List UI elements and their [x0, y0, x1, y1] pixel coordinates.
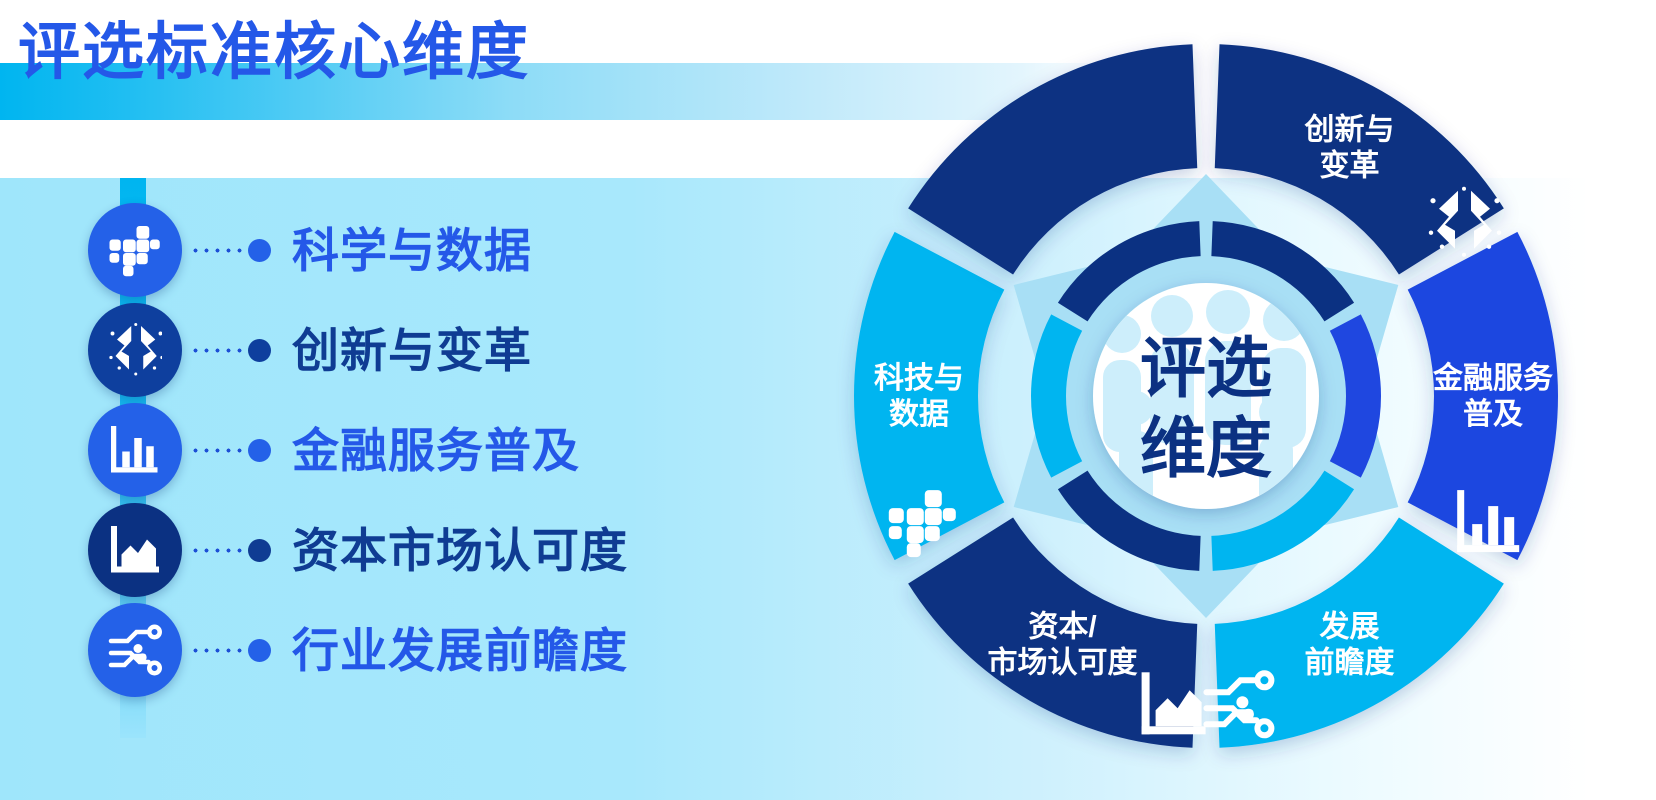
- list-item[interactable]: 科学与数据: [0, 200, 820, 300]
- list-item[interactable]: 创新与变革: [0, 300, 820, 400]
- donut-segment-label: 金融服务: [1432, 361, 1553, 395]
- donut-center-line1: 评选: [1140, 331, 1272, 405]
- list-bullet: [248, 339, 271, 362]
- donut-svg: 评选 维度 创新与变革金融服务普及发展前瞻度资本/市场认可度科技与数据: [836, 16, 1576, 776]
- area-chart-icon-badge[interactable]: [88, 503, 182, 597]
- list-item-label: 金融服务普及: [292, 427, 580, 474]
- bar-chart-icon: [108, 423, 162, 477]
- list-bullet: [248, 639, 271, 662]
- donut-segment-label: 普及: [1463, 397, 1523, 431]
- list-bullet: [248, 439, 271, 462]
- area-chart-icon: [108, 523, 162, 577]
- evaluation-dimensions-donut-chart: 评选 维度 创新与变革金融服务普及发展前瞻度资本/市场认可度科技与数据: [836, 16, 1576, 776]
- donut-segment-label: 创新与: [1304, 113, 1395, 146]
- dot-leader: [190, 548, 252, 553]
- donut-center-line2: 维度: [1140, 411, 1272, 485]
- list-item[interactable]: 行业发展前瞻度: [0, 600, 820, 700]
- nodes-blocks-icon-badge[interactable]: [88, 203, 182, 297]
- nodes-blocks-icon: [108, 223, 162, 277]
- donut-segment-label: 资本/: [1028, 610, 1097, 643]
- dot-leader: [190, 648, 252, 653]
- dimension-list: 科学与数据 创新与变革 金融服务普及: [0, 200, 820, 720]
- donut-segment-finance[interactable]: [1408, 232, 1558, 560]
- donut-segment-label: 前瞻度: [1305, 646, 1395, 679]
- circuit-network-icon-badge[interactable]: [88, 603, 182, 697]
- page-title: 评选标准核心维度: [18, 22, 718, 84]
- dot-leader: [190, 448, 252, 453]
- lightning-bolt-icon-badge[interactable]: [88, 303, 182, 397]
- lightning-bolt-icon: [108, 323, 162, 377]
- list-bullet: [248, 239, 271, 262]
- donut-segment-label: 数据: [889, 398, 949, 431]
- donut-segment-label: 变革: [1320, 148, 1380, 182]
- list-item[interactable]: 资本市场认可度: [0, 500, 820, 600]
- donut-segment-label: 市场认可度: [988, 645, 1138, 679]
- list-item-label: 资本市场认可度: [292, 527, 628, 574]
- circuit-network-icon: [108, 623, 162, 677]
- donut-segment-label: 科技与: [874, 362, 964, 395]
- dot-leader: [190, 348, 252, 353]
- donut-segment-label: 发展: [1319, 610, 1380, 643]
- dot-leader: [190, 248, 252, 253]
- list-item-label: 科学与数据: [292, 227, 532, 274]
- list-bullet: [248, 539, 271, 562]
- list-item[interactable]: 金融服务普及: [0, 400, 820, 500]
- bar-chart-icon-badge[interactable]: [88, 403, 182, 497]
- list-item-label: 行业发展前瞻度: [292, 627, 628, 674]
- list-item-label: 创新与变革: [292, 327, 532, 374]
